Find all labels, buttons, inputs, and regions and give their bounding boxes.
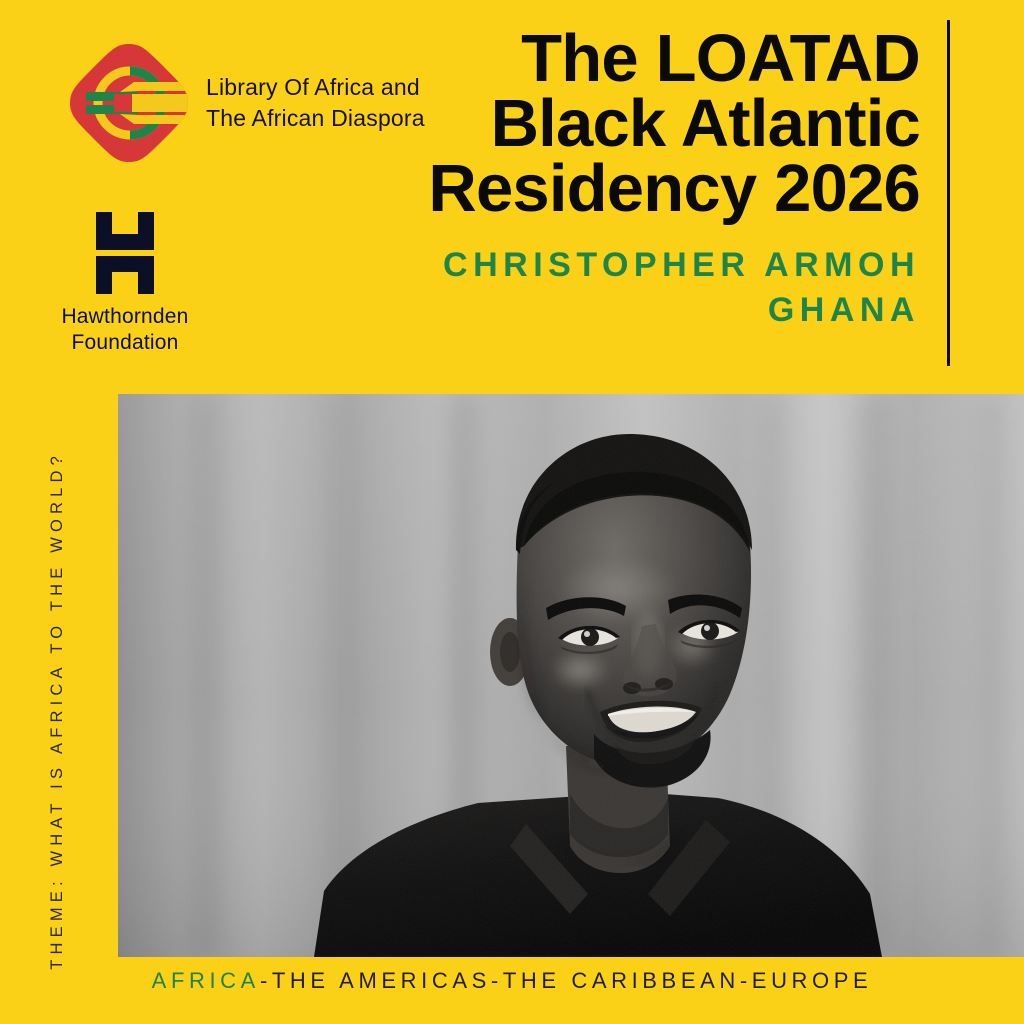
page-title: The LOATAD Black Atlantic Residency 2026 bbox=[400, 26, 920, 221]
loatad-wordmark-line-1: Library Of Africa and bbox=[206, 72, 425, 103]
headline-block: The LOATAD Black Atlantic Residency 2026… bbox=[400, 26, 920, 333]
headline-line-1: The LOATAD bbox=[521, 21, 920, 96]
headline-line-3: Residency 2026 bbox=[428, 151, 920, 226]
hawthornden-logo-lockup: Hawthornden Foundation bbox=[50, 212, 200, 355]
theme-label: THEME: WHAT IS AFRICA TO THE WORLD? bbox=[48, 451, 67, 970]
regions-caption-accent: AFRICA bbox=[152, 968, 260, 993]
loatad-logo-lockup: Library Of Africa and The African Diaspo… bbox=[68, 42, 425, 164]
theme-strip: THEME: WHAT IS AFRICA TO THE WORLD? bbox=[28, 392, 86, 970]
resident-portrait bbox=[118, 394, 1024, 957]
loatad-logo-icon bbox=[68, 42, 190, 164]
regions-caption: AFRICA-THE AMERICAS-THE CARIBBEAN-EUROPE bbox=[0, 968, 1024, 994]
hawthornden-wordmark-line-2: Foundation bbox=[50, 330, 200, 356]
loatad-wordmark: Library Of Africa and The African Diaspo… bbox=[206, 72, 425, 134]
resident-name: CHRISTOPHER ARMOH bbox=[400, 243, 920, 288]
hawthornden-wordmark-line-1: Hawthornden bbox=[50, 304, 200, 330]
title-divider bbox=[947, 20, 950, 366]
loatad-wordmark-line-2: The African Diaspora bbox=[206, 103, 425, 134]
headline-line-2: Black Atlantic bbox=[491, 86, 920, 161]
resident-portrait-image bbox=[118, 394, 1024, 957]
hawthornden-wordmark: Hawthornden Foundation bbox=[50, 304, 200, 355]
hawthornden-h-monogram-icon bbox=[94, 212, 156, 294]
resident-country: GHANA bbox=[400, 288, 920, 333]
regions-caption-rest: -THE AMERICAS-THE CARIBBEAN-EUROPE bbox=[260, 968, 872, 993]
residency-announcement-poster: Library Of Africa and The African Diaspo… bbox=[0, 0, 1024, 1024]
